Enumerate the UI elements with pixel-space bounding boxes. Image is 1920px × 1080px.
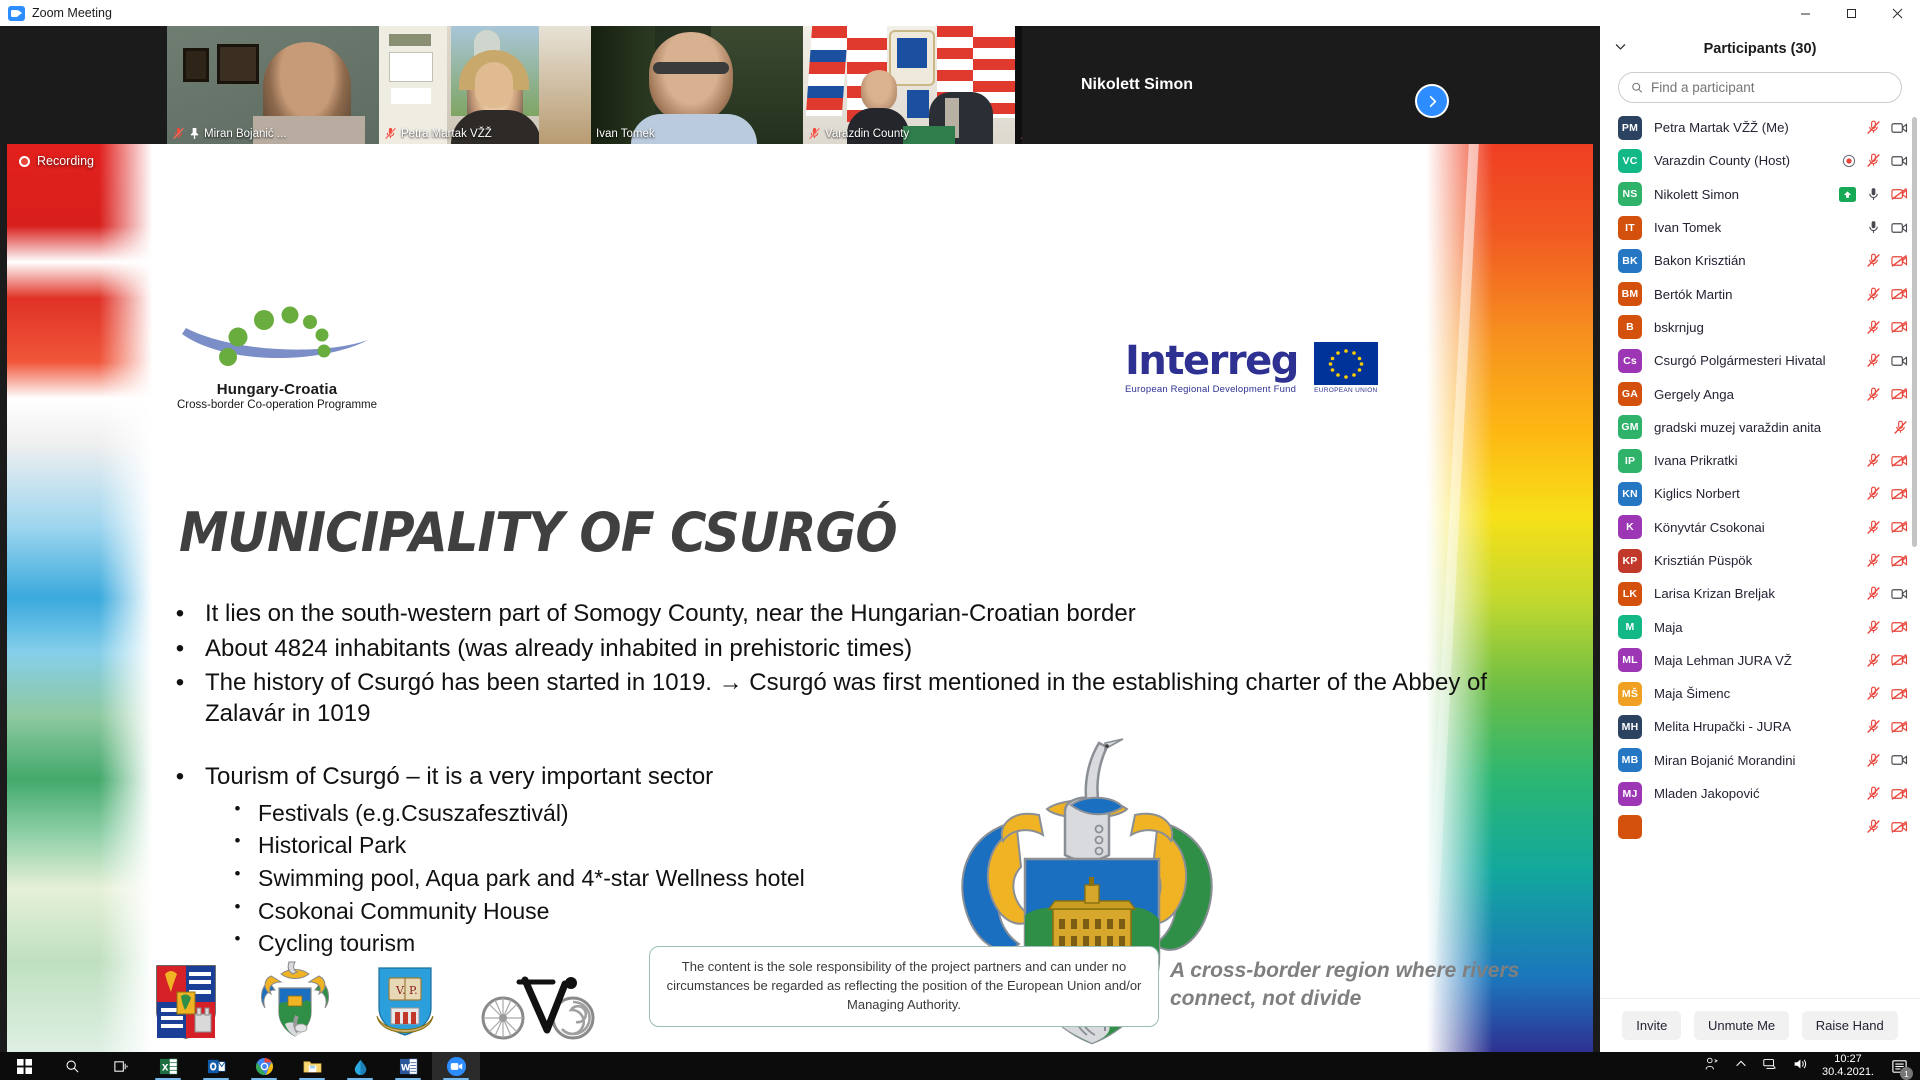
disclaimer-box: The content is the sole responsibility o…	[649, 946, 1159, 1027]
bullet-dot-icon: •	[175, 599, 185, 630]
slide-footer-logos: V. P.	[155, 960, 597, 1040]
thumbnail-label-row: Varazdin County	[803, 123, 1015, 144]
participant-name: Ivana Prikratki	[1654, 453, 1738, 468]
volume-icon[interactable]	[1792, 1056, 1808, 1077]
zoom-meeting-window: Zoom Meeting	[0, 0, 1920, 1080]
presentation-slide: Recording Hungary-Croatia Cross-border C…	[7, 144, 1593, 1052]
thumbnail-label-row: Ivan Tomek	[591, 123, 803, 144]
thumbnail-name: Petra Martak VŽŽ	[401, 128, 492, 140]
mic-off-icon[interactable]	[1866, 553, 1881, 568]
bullet-text: It lies on the south-western part of Som…	[205, 599, 1136, 630]
mic-off-icon	[808, 127, 821, 140]
search-container	[1600, 72, 1920, 111]
maximize-button[interactable]	[1828, 0, 1874, 26]
hungary-croatia-caption: Hungary-Croatia Cross-border Co-operatio…	[172, 381, 382, 411]
search-box[interactable]	[1618, 72, 1902, 103]
participant-name: Bertók Martin	[1654, 287, 1732, 302]
mic-off-icon[interactable]	[1866, 253, 1881, 268]
participant-status-icons	[1866, 320, 1908, 335]
participant-status-icons	[1866, 453, 1908, 468]
mic-off-icon	[384, 127, 397, 140]
sub-bullet-text: Cycling tourism	[258, 927, 415, 960]
recording-dot-icon	[19, 156, 30, 167]
word-taskbar-button[interactable]: W	[384, 1052, 432, 1080]
participant-status-icons	[1866, 353, 1908, 368]
interreg-wordmark: Interreg European Regional Development F…	[1125, 342, 1298, 395]
search-icon	[1631, 81, 1643, 94]
sub-bullet-text: Historical Park	[258, 829, 406, 862]
bullet-dot-icon: •	[175, 668, 185, 729]
unmute-me-button[interactable]: Unmute Me	[1694, 1011, 1789, 1040]
camera-on-icon[interactable]	[1891, 154, 1908, 168]
eu-caption: EUROPEAN UNION	[1314, 387, 1378, 394]
camera-on-icon[interactable]	[1891, 121, 1908, 135]
teams-icon	[351, 1057, 370, 1076]
participant-name: Krisztián Püspök	[1654, 553, 1752, 568]
participant-row[interactable]: KKönyvtár Csokonai	[1600, 511, 1920, 544]
slide-tagline: A cross-border region where rivers conne…	[1170, 957, 1520, 1012]
avatar: LK	[1618, 582, 1642, 606]
avatar: Cs	[1618, 349, 1642, 373]
participant-status-icons	[1866, 653, 1908, 668]
chrome-icon	[255, 1057, 274, 1076]
title-bar: Zoom Meeting	[0, 0, 1920, 26]
sub-bullet-item: • Csokonai Community House	[233, 895, 1515, 928]
camera-off-icon[interactable]	[1891, 320, 1908, 334]
avatar: KP	[1618, 549, 1642, 573]
slide-bullet-list: • It lies on the south-western part of S…	[175, 599, 1515, 960]
svg-text:V.: V.	[395, 984, 406, 997]
svg-text:W: W	[400, 1063, 410, 1073]
avatar: BM	[1618, 282, 1642, 306]
thumbnail-name: Miran Bojanić ...	[204, 128, 286, 140]
notification-count: 1	[1900, 1067, 1913, 1080]
participant-status-icons	[1866, 253, 1908, 268]
participant-row[interactable]: IPIvana Prikratki	[1600, 444, 1920, 477]
hungary-croatia-mark-icon	[172, 304, 382, 376]
active-speaker-name: Nikolett Simon	[1022, 26, 1252, 144]
participant-row[interactable]: LKLarisa Krizan Breljak	[1600, 577, 1920, 610]
participant-name: Ivan Tomek	[1654, 220, 1721, 235]
participant-status-icons	[1893, 420, 1908, 435]
window-title: Zoom Meeting	[32, 6, 112, 20]
mic-off-icon[interactable]	[1866, 453, 1881, 468]
avatar: IP	[1618, 449, 1642, 473]
avatar: BK	[1618, 249, 1642, 273]
shared-screen-stage: Recording Hungary-Croatia Cross-border C…	[0, 144, 1600, 1052]
avatar: KN	[1618, 482, 1642, 506]
search-input[interactable]	[1651, 80, 1889, 95]
participant-name: gradski muzej varaždin anita	[1654, 420, 1821, 435]
participant-row[interactable]: MŠMaja Šimenc	[1600, 677, 1920, 710]
avatar: IT	[1618, 216, 1642, 240]
clock-time: 10:27	[1822, 1053, 1874, 1066]
mic-off-icon[interactable]	[1866, 586, 1881, 601]
avatar: MJ	[1618, 782, 1642, 806]
participant-status-icons	[1866, 819, 1908, 834]
video-thumbnail[interactable]: Varazdin County	[803, 26, 1015, 144]
bullet-item: • About 4824 inhabitants (was already in…	[175, 634, 1515, 665]
avatar: GA	[1618, 382, 1642, 406]
bullet-text: About 4824 inhabitants (was already inha…	[205, 634, 912, 665]
avatar	[1618, 815, 1642, 839]
interreg-word: Interreg	[1125, 342, 1298, 380]
bullet-dot-icon: •	[233, 895, 242, 928]
sub-bullet-item: • Historical Park	[233, 829, 1515, 862]
avatar: MB	[1618, 748, 1642, 772]
vp-shield-crest-icon: V. P.	[373, 964, 437, 1040]
pin-icon	[189, 127, 200, 140]
bullet-dot-icon: •	[233, 829, 242, 862]
outlook-icon	[207, 1057, 226, 1076]
raise-hand-badge	[1839, 187, 1856, 202]
participant-status-icons	[1866, 786, 1908, 801]
participant-status-icons	[1866, 620, 1908, 635]
participant-name: Nikolett Simon	[1654, 187, 1739, 202]
start-button[interactable]	[0, 1052, 48, 1080]
participant-name: Maja	[1654, 620, 1683, 635]
sub-bullet-text: Festivals (e.g.Csuszafesztivál)	[258, 797, 569, 830]
camera-off-icon[interactable]	[1891, 820, 1908, 834]
slide-left-ribbon-decoration	[7, 144, 157, 1052]
bullet-dot-icon: •	[175, 634, 185, 665]
camera-off-icon[interactable]	[1891, 187, 1908, 201]
camera-off-icon[interactable]	[1891, 787, 1908, 801]
participant-name: Csurgó Polgármesteri Hivatal	[1654, 353, 1826, 368]
sub-bullet-text: Csokonai Community House	[258, 895, 549, 928]
thumbnail-name: Varazdin County	[825, 128, 909, 140]
participants-list[interactable]: PMPetra Martak VŽŽ (Me) VCVarazdin Count…	[1600, 111, 1920, 998]
bullet-dot-icon: •	[175, 762, 185, 793]
sub-bullet-text: Swimming pool, Aqua park and 4*-star Wel…	[258, 862, 805, 895]
mic-off-icon[interactable]	[1866, 819, 1881, 834]
participant-row[interactable]: MJMladen Jakopović	[1600, 777, 1920, 810]
participant-row[interactable]: BMBertók Martin	[1600, 277, 1920, 310]
mic-off-icon[interactable]	[1866, 153, 1881, 168]
participant-status-icons	[1866, 753, 1908, 768]
camera-on-icon[interactable]	[1891, 587, 1908, 601]
varazdin-county-crest-icon	[155, 964, 217, 1040]
bullet-item: • The history of Csurgó has been started…	[175, 668, 1515, 729]
interreg-subtitle: European Regional Development Fund	[1125, 384, 1298, 395]
participant-status-icons	[1866, 120, 1908, 135]
participant-name: Melita Hrupački - JURA	[1654, 719, 1791, 734]
camera-off-icon[interactable]	[1891, 487, 1908, 501]
camera-on-icon[interactable]	[1891, 221, 1908, 235]
participant-status-icons	[1866, 287, 1908, 302]
video-thumbnail[interactable]: Ivan Tomek	[591, 26, 803, 144]
participants-panel: Participants (30) PMPetra Martak VŽŽ (Me…	[1600, 26, 1920, 1052]
task-view-icon	[113, 1059, 128, 1074]
mic-off-icon[interactable]	[1866, 686, 1881, 701]
mic-off-icon[interactable]	[1866, 719, 1881, 734]
recording-indicator-icon	[1842, 154, 1856, 168]
svg-text:X: X	[161, 1063, 168, 1073]
video-thumbnail[interactable]: Petra Martak VŽŽ	[379, 26, 591, 144]
mic-off-icon[interactable]	[1866, 353, 1881, 368]
camera-off-icon[interactable]	[1891, 720, 1908, 734]
participant-name: Kiglics Norbert	[1654, 486, 1740, 501]
bullet-item: • Tourism of Csurgó – it is a very impor…	[175, 762, 1515, 793]
system-tray: 10:27 30.4.2021. 1	[1704, 1053, 1920, 1080]
camera-off-icon[interactable]	[1891, 653, 1908, 667]
avatar: VC	[1618, 149, 1642, 173]
avatar: ML	[1618, 648, 1642, 672]
outlook-taskbar-button[interactable]	[192, 1052, 240, 1080]
mic-off-icon[interactable]	[1866, 520, 1881, 535]
participant-row[interactable]: MBMiran Bojanić Morandini	[1600, 744, 1920, 777]
participant-name: Mladen Jakopović	[1654, 786, 1760, 801]
camera-on-icon[interactable]	[1891, 354, 1908, 368]
participant-row[interactable]: VCVarazdin County (Host)	[1600, 144, 1920, 177]
participant-status-icons	[1839, 187, 1908, 202]
teams-taskbar-button[interactable]	[336, 1052, 384, 1080]
chevron-down-icon	[1614, 40, 1627, 53]
avatar: B	[1618, 315, 1642, 339]
interreg-logo: Interreg European Regional Development F…	[1125, 342, 1378, 395]
participant-row[interactable]: MMaja	[1600, 610, 1920, 643]
network-icon[interactable]	[1762, 1056, 1778, 1077]
thumbnail-label-row: Miran Bojanić ...	[167, 123, 379, 144]
camera-off-icon[interactable]	[1891, 287, 1908, 301]
bullet-dot-icon: •	[233, 862, 242, 895]
avatar: MH	[1618, 715, 1642, 739]
next-page-button[interactable]	[1415, 84, 1449, 118]
mic-off-icon	[172, 127, 185, 140]
notification-center-button[interactable]: 1	[1888, 1055, 1910, 1077]
bullet-dot-icon: •	[233, 927, 242, 960]
participant-row[interactable]: NSNikolett Simon	[1600, 178, 1920, 211]
participant-row[interactable]: MHMelita Hrupački - JURA	[1600, 710, 1920, 743]
task-view-button[interactable]	[96, 1052, 144, 1080]
camera-off-icon[interactable]	[1891, 554, 1908, 568]
zoom-icon	[446, 1056, 467, 1077]
taskbar-apps: X	[0, 1052, 480, 1080]
camera-off-icon[interactable]	[1891, 387, 1908, 401]
participant-status-icons	[1866, 387, 1908, 402]
bullet-text: Tourism of Csurgó – it is a very importa…	[205, 762, 713, 793]
participant-name: Könyvtár Csokonai	[1654, 520, 1765, 535]
mic-off-icon[interactable]	[1866, 387, 1881, 402]
thumbnail-name: Ivan Tomek	[596, 128, 655, 140]
participant-status-icons	[1842, 153, 1908, 168]
participant-row[interactable]: PMPetra Martak VŽŽ (Me)	[1600, 111, 1920, 144]
somogy-county-crest-icon	[259, 960, 331, 1040]
participant-name: Maja Šimenc	[1654, 686, 1730, 701]
participant-name: Varazdin County (Host)	[1654, 153, 1790, 168]
title-bar-left: Zoom Meeting	[0, 6, 112, 21]
participant-row[interactable]: Bbskrnjug	[1600, 311, 1920, 344]
video-filmstrip: Miran Bojanić ...	[0, 26, 1600, 144]
mic-off-icon[interactable]	[1893, 420, 1908, 435]
participant-name: Larisa Krizan Breljak	[1654, 586, 1775, 601]
participant-name: bskrnjug	[1654, 320, 1704, 335]
recording-label: Recording	[37, 154, 94, 168]
participants-scrollbar[interactable]	[1912, 115, 1917, 994]
bullet-dot-icon: •	[233, 797, 242, 830]
avatar: K	[1618, 515, 1642, 539]
file-explorer-taskbar-button[interactable]	[288, 1052, 336, 1080]
participants-title: Participants (30)	[1600, 41, 1920, 57]
participant-name: Maja Lehman JURA VŽ	[1654, 653, 1792, 668]
participant-status-icons	[1866, 486, 1908, 501]
avatar: GM	[1618, 415, 1642, 439]
participant-row[interactable]: MLMaja Lehman JURA VŽ	[1600, 644, 1920, 677]
participant-row[interactable]: ITIvan Tomek	[1600, 211, 1920, 244]
chrome-taskbar-button[interactable]	[240, 1052, 288, 1080]
mic-on-icon[interactable]	[1866, 220, 1881, 235]
participant-row[interactable]: KPKrisztián Püspök	[1600, 544, 1920, 577]
camera-off-icon[interactable]	[1891, 687, 1908, 701]
participants-header: Participants (30)	[1600, 26, 1920, 72]
people-icon[interactable]	[1704, 1056, 1720, 1077]
slide-title: MUNICIPALITY OF CSURGÓ	[179, 501, 897, 564]
mic-off-icon[interactable]	[1866, 320, 1881, 335]
thumbnail-label-row: Petra Martak VŽŽ	[379, 123, 591, 144]
participant-row[interactable]: BKBakon Krisztián	[1600, 244, 1920, 277]
close-button[interactable]	[1874, 0, 1920, 26]
participants-footer: Invite Unmute Me Raise Hand	[1600, 998, 1920, 1052]
participant-status-icons	[1866, 220, 1908, 235]
avatar: MŠ	[1618, 682, 1642, 706]
chevron-right-icon	[1425, 94, 1440, 109]
sub-bullet-item: • Swimming pool, Aqua park and 4*-star W…	[233, 862, 1515, 895]
avatar: NS	[1618, 182, 1642, 206]
participant-row[interactable]	[1600, 810, 1920, 843]
participant-status-icons	[1866, 586, 1908, 601]
zoom-taskbar-button[interactable]	[432, 1052, 480, 1080]
show-hidden-icons-icon[interactable]	[1734, 1057, 1748, 1076]
logo-line-2: Cross-border Co-operation Programme	[172, 399, 382, 411]
participant-name: Miran Bojanić Morandini	[1654, 753, 1795, 768]
participant-name: Gergely Anga	[1654, 387, 1734, 402]
camera-off-icon[interactable]	[1891, 254, 1908, 268]
camera-off-icon[interactable]	[1891, 520, 1908, 534]
window-controls	[1782, 0, 1920, 26]
participant-row[interactable]: CsCsurgó Polgármesteri Hivatal	[1600, 344, 1920, 377]
start-icon	[17, 1059, 32, 1074]
raise-hand-button[interactable]: Raise Hand	[1802, 1011, 1898, 1040]
search-icon	[65, 1059, 80, 1074]
participant-name: Petra Martak VŽŽ (Me)	[1654, 120, 1789, 135]
recording-indicator: Recording	[19, 154, 94, 168]
mic-off-icon[interactable]	[1866, 486, 1881, 501]
mic-on-icon[interactable]	[1866, 187, 1881, 202]
invite-button[interactable]: Invite	[1622, 1011, 1681, 1040]
camera-on-icon[interactable]	[1891, 753, 1908, 767]
file-explorer-icon	[303, 1057, 322, 1076]
bullet-spacer	[175, 734, 1515, 762]
windows-taskbar: X	[0, 1052, 1920, 1080]
hungary-croatia-logo: Hungary-Croatia Cross-border Co-operatio…	[172, 304, 382, 411]
participant-row[interactable]: GMgradski muzej varaždin anita	[1600, 411, 1920, 444]
avatar: PM	[1618, 116, 1642, 140]
mic-off-icon[interactable]	[1866, 753, 1881, 768]
mic-off-icon[interactable]	[1866, 653, 1881, 668]
camera-off-icon[interactable]	[1891, 620, 1908, 634]
mic-off-icon[interactable]	[1866, 786, 1881, 801]
sub-bullet-item: • Festivals (e.g.Csuszafesztivál)	[233, 797, 1515, 830]
minimize-button[interactable]	[1782, 0, 1828, 26]
word-icon: W	[399, 1057, 418, 1076]
participant-status-icons	[1866, 520, 1908, 535]
avatar: M	[1618, 615, 1642, 639]
eu-flag-icon: EUROPEAN UNION	[1314, 342, 1378, 385]
bicycle-v-logo-icon	[479, 974, 597, 1040]
mic-off-icon[interactable]	[1866, 620, 1881, 635]
bullet-item: • It lies on the south-western part of S…	[175, 599, 1515, 630]
participant-status-icons	[1866, 553, 1908, 568]
participant-name: Bakon Krisztián	[1654, 253, 1746, 268]
collapse-panel-button[interactable]	[1614, 40, 1627, 58]
video-thumbnail[interactable]: Miran Bojanić ...	[167, 26, 379, 144]
logo-line-1: Hungary-Croatia	[172, 381, 382, 398]
zoom-camera-icon	[8, 6, 25, 21]
scrollbar-thumb[interactable]	[1912, 117, 1917, 547]
participant-row[interactable]: GAGergely Anga	[1600, 377, 1920, 410]
svg-text:P.: P.	[409, 984, 418, 997]
participant-row[interactable]: KNKiglics Norbert	[1600, 477, 1920, 510]
camera-off-icon[interactable]	[1891, 454, 1908, 468]
bullet-text: The history of Csurgó has been started i…	[205, 668, 1515, 729]
taskbar-clock[interactable]: 10:27 30.4.2021.	[1822, 1053, 1874, 1080]
participant-status-icons	[1866, 719, 1908, 734]
excel-taskbar-button[interactable]: X	[144, 1052, 192, 1080]
clock-date: 30.4.2021.	[1822, 1066, 1874, 1079]
mic-off-icon[interactable]	[1866, 287, 1881, 302]
mic-off-icon[interactable]	[1866, 120, 1881, 135]
taskbar-search-button[interactable]	[48, 1052, 96, 1080]
participant-status-icons	[1866, 686, 1908, 701]
excel-icon: X	[159, 1057, 178, 1076]
eu-stars-icon	[1314, 342, 1378, 385]
